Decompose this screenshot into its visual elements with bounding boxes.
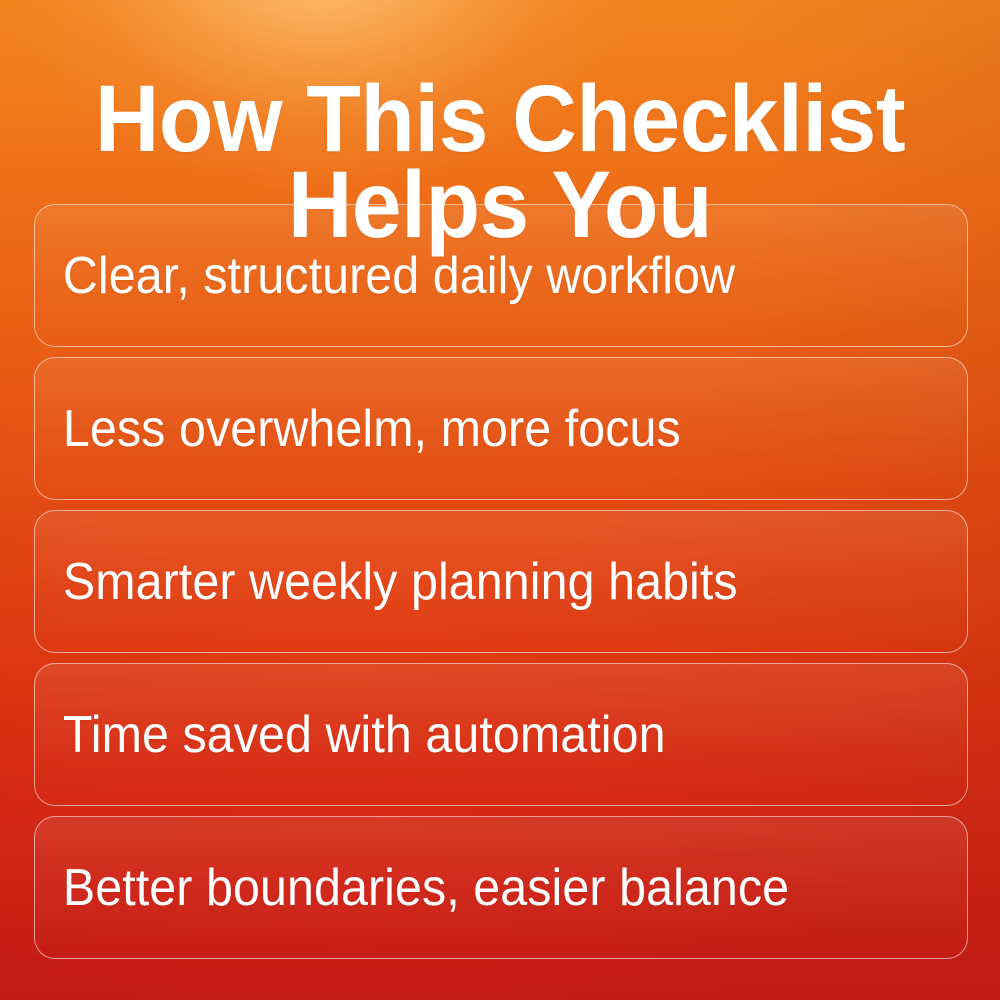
benefit-card-3-label: Smarter weekly planning habits <box>35 553 760 611</box>
benefit-card-3: Smarter weekly planning habits <box>34 510 968 653</box>
benefits-card-list: Clear, structured daily workflow Less ov… <box>34 204 968 959</box>
benefit-card-1-label: Clear, structured daily workflow <box>35 247 757 305</box>
benefit-card-2-label: Less overwhelm, more focus <box>35 400 703 458</box>
benefit-card-2: Less overwhelm, more focus <box>34 357 968 500</box>
benefit-card-4-label: Time saved with automation <box>35 706 688 764</box>
benefit-card-5: Better boundaries, easier balance <box>34 816 968 959</box>
benefit-card-5-label: Better boundaries, easier balance <box>35 859 811 917</box>
benefit-card-4: Time saved with automation <box>34 663 968 806</box>
checklist-benefits-poster: How This Checklist Helps You Clear, stru… <box>0 0 1000 1000</box>
benefit-card-1: Clear, structured daily workflow <box>34 204 968 347</box>
poster-content: How This Checklist Helps You Clear, stru… <box>0 0 1000 1000</box>
